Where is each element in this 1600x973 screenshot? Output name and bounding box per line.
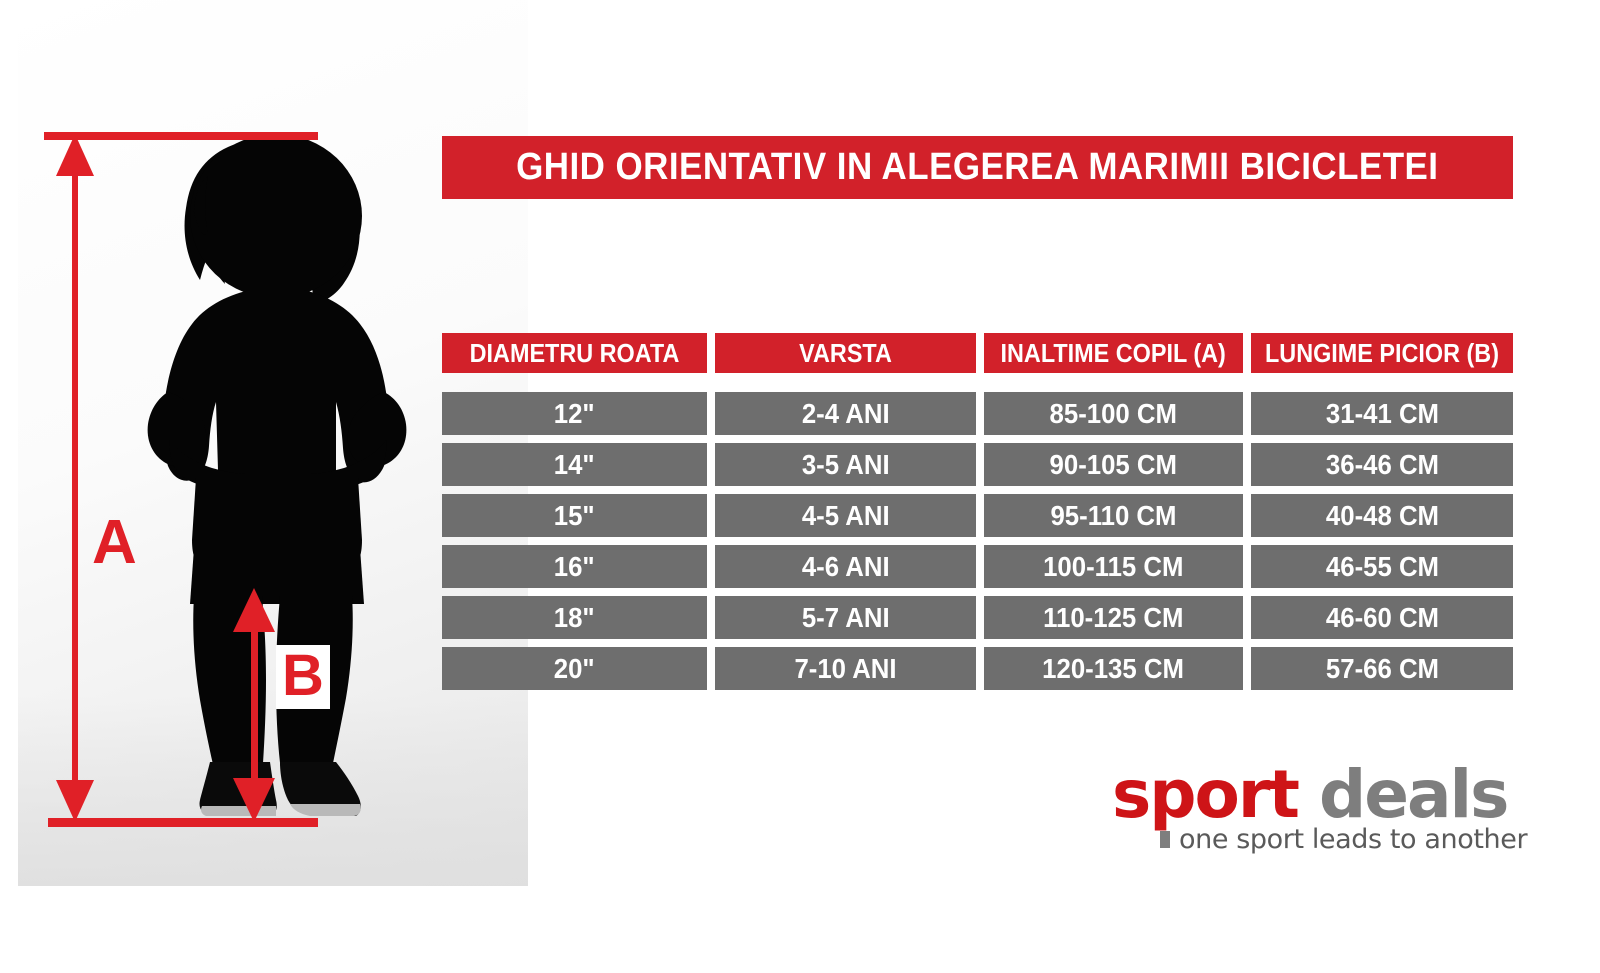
column-header-label: DIAMETRU ROATA xyxy=(470,338,680,369)
cell-value: 31-41 CM xyxy=(1325,398,1438,430)
column-header-label: LUNGIME PICIOR (B) xyxy=(1265,338,1499,369)
cell-value: 85-100 CM xyxy=(1050,398,1177,430)
cell-value: 3-5 ANI xyxy=(802,449,890,481)
cell-wheel-diameter: 15" xyxy=(442,494,707,537)
table-row: 20" 7-10 ANI 120-135 CM 57-66 CM xyxy=(442,647,1513,690)
cell-value: 4-5 ANI xyxy=(802,500,890,532)
cell-age: 5-7 ANI xyxy=(715,596,976,639)
cell-value: 100-115 CM xyxy=(1043,551,1183,583)
cell-value: 40-48 CM xyxy=(1325,500,1438,532)
title-banner: GHID ORIENTATIV IN ALEGEREA MARIMII BICI… xyxy=(442,136,1513,199)
cell-value: 120-135 CM xyxy=(1043,653,1185,685)
inseam-measure-label-b: B xyxy=(276,645,330,709)
cell-value: 14" xyxy=(554,449,595,481)
cell-child-height: 85-100 CM xyxy=(984,392,1243,435)
cell-leg-length: 31-41 CM xyxy=(1251,392,1513,435)
cell-value: 4-6 ANI xyxy=(802,551,890,583)
height-measure-label-a: A xyxy=(92,512,137,574)
table-row: 14" 3-5 ANI 90-105 CM 36-46 CM xyxy=(442,443,1513,486)
cell-value: 12" xyxy=(554,398,595,430)
cell-child-height: 120-135 CM xyxy=(984,647,1243,690)
column-header-wheel-diameter: DIAMETRU ROATA xyxy=(442,333,707,373)
bike-size-table: DIAMETRU ROATA VARSTA INALTIME COPIL (A)… xyxy=(442,333,1513,698)
cell-child-height: 100-115 CM xyxy=(984,545,1243,588)
logo-word-deals: deals xyxy=(1319,756,1507,833)
cell-value: 46-60 CM xyxy=(1325,602,1438,634)
logo-tagline-row: one sport leads to another xyxy=(1160,824,1527,855)
cell-age: 4-5 ANI xyxy=(715,494,976,537)
cell-wheel-diameter: 16" xyxy=(442,545,707,588)
cell-age: 3-5 ANI xyxy=(715,443,976,486)
cell-wheel-diameter: 14" xyxy=(442,443,707,486)
cell-value: 7-10 ANI xyxy=(794,653,896,685)
cell-value: 95-110 CM xyxy=(1050,500,1176,532)
cell-value: 5-7 ANI xyxy=(802,602,890,634)
cell-wheel-diameter: 20" xyxy=(442,647,707,690)
cell-value: 15" xyxy=(554,500,595,532)
cell-leg-length: 36-46 CM xyxy=(1251,443,1513,486)
column-header-child-height: INALTIME COPIL (A) xyxy=(984,333,1243,373)
cell-value: 2-4 ANI xyxy=(802,398,890,430)
cell-wheel-diameter: 18" xyxy=(442,596,707,639)
table-row: 18" 5-7 ANI 110-125 CM 46-60 CM xyxy=(442,596,1513,639)
column-header-age: VARSTA xyxy=(715,333,976,373)
cell-value: 110-125 CM xyxy=(1043,602,1183,634)
cell-age: 7-10 ANI xyxy=(715,647,976,690)
cell-leg-length: 46-60 CM xyxy=(1251,596,1513,639)
column-header-label: VARSTA xyxy=(799,338,892,369)
table-header-row: DIAMETRU ROATA VARSTA INALTIME COPIL (A)… xyxy=(442,333,1513,373)
cell-leg-length: 46-55 CM xyxy=(1251,545,1513,588)
table-row: 12" 2-4 ANI 85-100 CM 31-41 CM xyxy=(442,392,1513,435)
table-row: 16" 4-6 ANI 100-115 CM 46-55 CM xyxy=(442,545,1513,588)
sport-deals-logo: sport deals one sport leads to another xyxy=(1112,762,1517,854)
table-row: 15" 4-5 ANI 95-110 CM 40-48 CM xyxy=(442,494,1513,537)
cell-value: 90-105 CM xyxy=(1050,449,1177,481)
cell-leg-length: 57-66 CM xyxy=(1251,647,1513,690)
cell-leg-length: 40-48 CM xyxy=(1251,494,1513,537)
logo-word-sport: sport xyxy=(1112,756,1298,833)
logo-tagline: one sport leads to another xyxy=(1179,824,1527,855)
cell-value: 46-55 CM xyxy=(1325,551,1438,583)
cell-child-height: 110-125 CM xyxy=(984,596,1243,639)
cell-value: 20" xyxy=(554,653,595,685)
cell-value: 36-46 CM xyxy=(1325,449,1438,481)
column-header-leg-length: LUNGIME PICIOR (B) xyxy=(1251,333,1513,373)
cell-child-height: 95-110 CM xyxy=(984,494,1243,537)
cell-age: 2-4 ANI xyxy=(715,392,976,435)
page-title: GHID ORIENTATIV IN ALEGEREA MARIMII BICI… xyxy=(516,146,1438,189)
logo-wordmark: sport deals xyxy=(1112,762,1507,828)
cell-value: 18" xyxy=(554,602,595,634)
cell-wheel-diameter: 12" xyxy=(442,392,707,435)
cell-value: 16" xyxy=(554,551,595,583)
cell-value: 57-66 CM xyxy=(1325,653,1438,685)
cell-age: 4-6 ANI xyxy=(715,545,976,588)
square-bullet-icon xyxy=(1160,831,1170,848)
cell-child-height: 90-105 CM xyxy=(984,443,1243,486)
column-header-label: INALTIME COPIL (A) xyxy=(1001,338,1226,369)
